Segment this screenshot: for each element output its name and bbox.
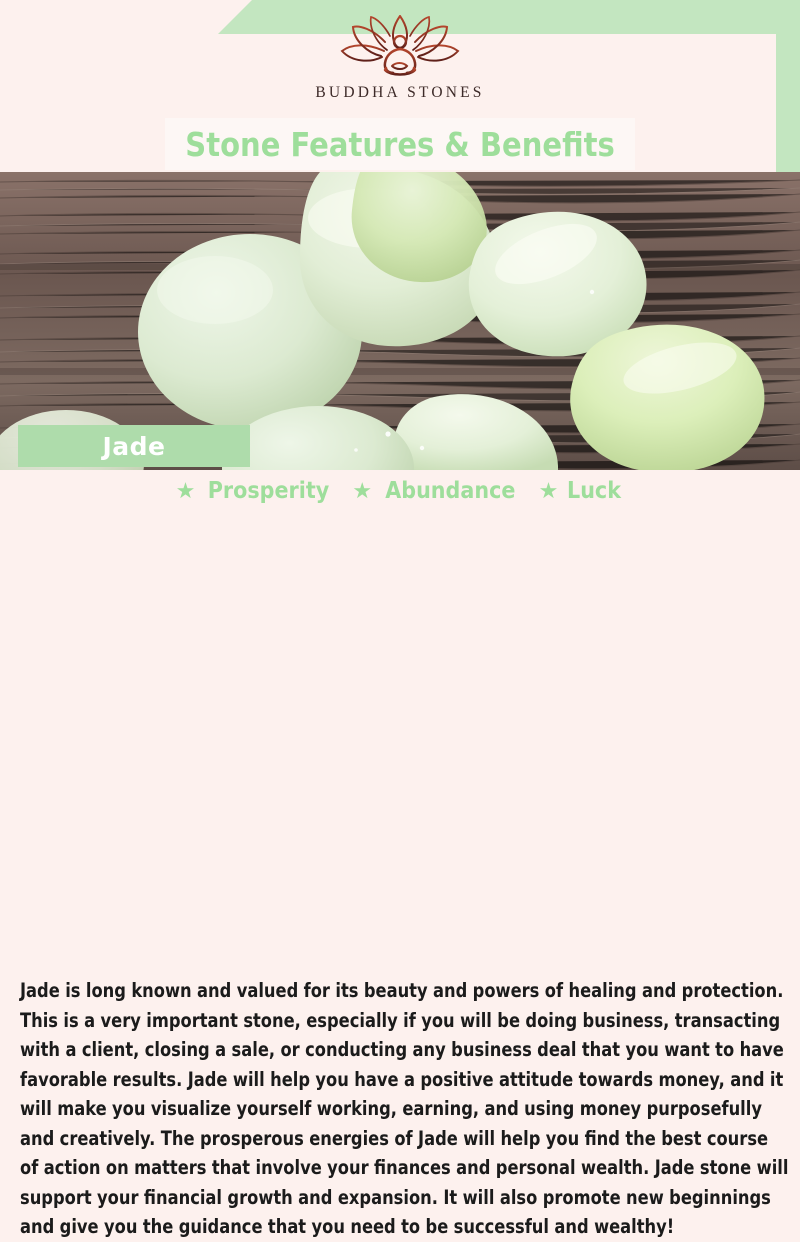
- description-text: Jade is long known and valued for its be…: [20, 976, 791, 1242]
- brand-name: BUDDHA STONES: [315, 84, 484, 102]
- keyword-label: Luck: [567, 478, 621, 504]
- keyword-item-luck: ★ Luck: [539, 478, 625, 504]
- page-title: Stone Features & Benefits: [185, 125, 614, 164]
- keyword-item-abundance: ★ Abundance: [352, 478, 522, 504]
- star-icon: ★: [176, 480, 196, 502]
- lotus-meditation-icon: [325, 14, 475, 80]
- section-title-banner: Stone Features & Benefits: [165, 118, 635, 170]
- stone-name-text: Jade: [102, 432, 165, 461]
- description-container: Jade is long known and valued for its be…: [20, 976, 790, 1242]
- content-section: ★ Prosperity ★ Abundance ★ Luck Jade is …: [0, 470, 800, 800]
- brand-header: BUDDHA STONES: [0, 0, 800, 118]
- keyword-item-prosperity: ★ Prosperity: [176, 478, 337, 504]
- keyword-list: ★ Prosperity ★ Abundance ★ Luck: [0, 470, 800, 504]
- star-icon: ★: [539, 480, 559, 502]
- stone-name-label: Jade: [18, 425, 250, 467]
- keyword-label: Abundance: [385, 478, 515, 504]
- keyword-label: Prosperity: [208, 478, 329, 504]
- star-icon: ★: [352, 480, 372, 502]
